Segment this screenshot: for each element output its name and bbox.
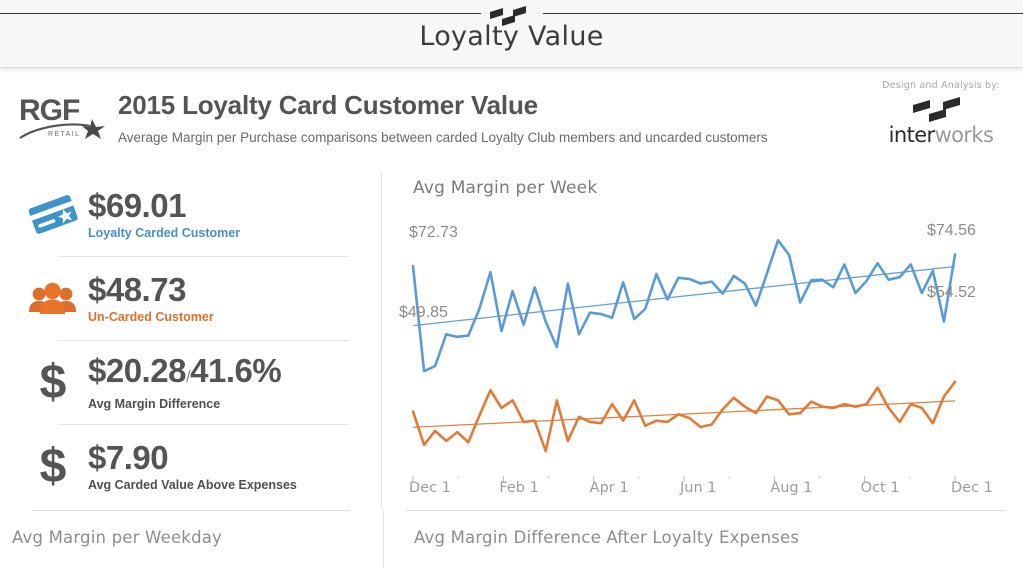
- kpi-body: $48.73 Un-Carded Customer: [84, 272, 214, 325]
- kpi-label: Un-Carded Customer: [88, 309, 214, 325]
- credit-company-part-b: works: [935, 123, 994, 147]
- avg-margin-per-week-chart[interactable]: Avg Margin per Week $72.73 $49.85 $74.56…: [383, 172, 1023, 510]
- interworks-mark-icon: [912, 97, 970, 123]
- chart-annotation-end-bottom: $54.52: [927, 284, 976, 302]
- kpi-label: Loyalty Carded Customer: [88, 225, 240, 241]
- loyalty-card-icon: [22, 194, 84, 234]
- kpi-body: $69.01 Loyalty Carded Customer: [84, 188, 240, 241]
- svg-text:RETAIL: RETAIL: [48, 131, 80, 138]
- x-tick-label: Aug 1: [770, 480, 812, 496]
- window-titlebar: Loyalty Value: [0, 0, 1023, 68]
- section-title: Avg Margin per Weekday: [12, 528, 222, 547]
- window-title: Loyalty Value: [0, 22, 1023, 52]
- section-divider: [32, 510, 350, 511]
- rgf-retail-logo-icon: RGF RETAIL: [18, 92, 108, 144]
- credit-label: Design and Analysis by:: [877, 80, 1005, 91]
- kpi-body: $7.90 Avg Carded Value Above Expenses: [84, 440, 297, 493]
- kpi-body: $20.28/41.6% Avg Margin Difference: [84, 353, 281, 412]
- chart-x-axis-labels: Dec 1Feb 1Apr 1Jun 1Aug 1Oct 1Dec 1: [383, 480, 1023, 500]
- kpi-value: $20.28/41.6%: [88, 353, 281, 395]
- credit-company-part-a: inter: [889, 123, 935, 147]
- kpi-avg-margin-difference[interactable]: $ $20.28/41.6% Avg Margin Difference: [0, 340, 381, 424]
- page-subtitle: Average Margin per Purchase comparisons …: [118, 128, 768, 148]
- svg-text:$: $: [40, 443, 67, 489]
- x-tick-label: Feb 1: [499, 480, 539, 496]
- section-divider: [406, 510, 1005, 511]
- kpi-value-amount: $20.28: [88, 352, 186, 389]
- header-text-block: 2015 Loyalty Card Customer Value Average…: [118, 88, 768, 148]
- kpi-uncarded-customer[interactable]: $48.73 Un-Carded Customer: [0, 256, 381, 340]
- credit-company: interworks: [877, 124, 1005, 146]
- kpi-label: Avg Margin Difference: [88, 396, 281, 412]
- kpi-value-percent: 41.6%: [190, 352, 281, 389]
- dashboard-header: RGF RETAIL 2015 Loyalty Card Customer Va…: [0, 68, 1023, 172]
- kpi-label: Avg Carded Value Above Expenses: [88, 477, 297, 493]
- dollar-sign-icon: $: [22, 359, 84, 405]
- people-group-icon: [22, 278, 84, 318]
- kpi-value: $7.90: [88, 440, 297, 476]
- chart-annotation-start-top: $72.73: [409, 224, 458, 242]
- bottom-sections: Avg Margin per Weekday Avg Margin Differ…: [0, 510, 1023, 568]
- kpi-loyalty-carded-customer[interactable]: $69.01 Loyalty Carded Customer: [0, 172, 381, 256]
- bottom-section-margin-difference[interactable]: Avg Margin Difference After Loyalty Expe…: [383, 510, 1023, 568]
- kpi-value: $69.01: [88, 188, 240, 224]
- x-tick-label: Oct 1: [861, 480, 900, 496]
- x-tick-label: Dec 1: [409, 480, 451, 496]
- svg-text:$: $: [40, 359, 67, 405]
- kpi-avg-carded-value-above-expenses[interactable]: $ $7.90 Avg Carded Value Above Expenses: [0, 424, 381, 508]
- svg-text:RGF: RGF: [19, 94, 80, 127]
- x-tick-label: Jun 1: [680, 480, 717, 496]
- bottom-section-weekday[interactable]: Avg Margin per Weekday: [0, 510, 382, 568]
- page-title: 2015 Loyalty Card Customer Value: [118, 88, 768, 122]
- chart-annotation-end-top: $74.56: [927, 222, 976, 240]
- x-tick-label: Dec 1: [951, 480, 993, 496]
- kpi-value: $48.73: [88, 272, 214, 308]
- section-title: Avg Margin Difference After Loyalty Expe…: [414, 528, 799, 547]
- dashboard-content: $69.01 Loyalty Carded Customer $48.73 Un…: [0, 172, 1023, 510]
- x-tick-label: Apr 1: [590, 480, 629, 496]
- chart-annotation-start-bottom: $49.85: [399, 304, 448, 322]
- dollar-sign-icon: $: [22, 443, 84, 489]
- credit-block: Design and Analysis by: interworks: [877, 80, 1005, 146]
- kpi-panel: $69.01 Loyalty Carded Customer $48.73 Un…: [0, 172, 382, 510]
